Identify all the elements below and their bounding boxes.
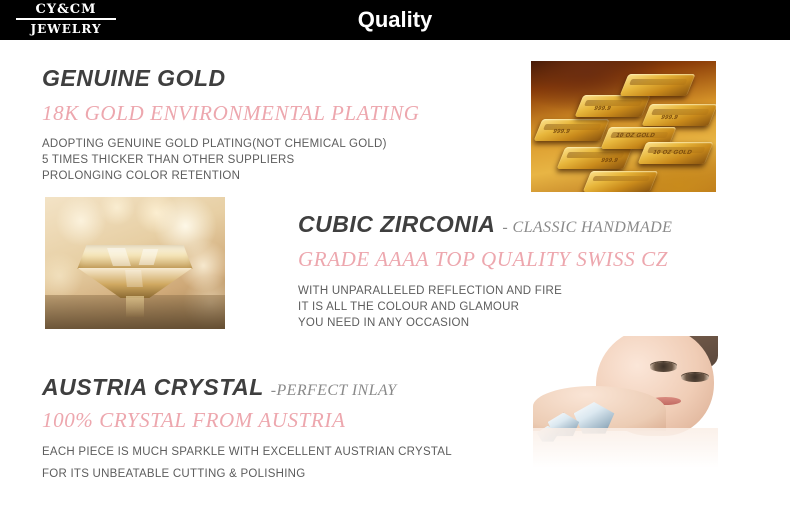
section-cubic-zirconia: CUBIC ZIRCONIA- CLASSIC HANDMADE GRADE A… [298, 212, 672, 331]
quality-banner-page: Quality CY&CM JEWELRY GENUINE GOLD 18K G… [0, 0, 790, 528]
brand-logo-subname: JEWELRY [16, 20, 116, 35]
brand-logo: CY&CM JEWELRY [16, 3, 116, 35]
page-header: Quality CY&CM JEWELRY [0, 0, 790, 40]
gold-bars-artwork: 999.9 999.9 999.9 999.9 10 OZ GOLD 10 OZ… [531, 61, 716, 192]
gold-bar [575, 95, 651, 117]
gold-bars-photo: 999.9 999.9 999.9 999.9 10 OZ GOLD 10 OZ… [531, 61, 716, 192]
section-subheading-cubic-zirconia: GRADE AAAA TOP QUALITY SWISS CZ [298, 247, 672, 272]
golden-diamond-photo [45, 197, 225, 329]
woman-with-crystals-photo [533, 336, 718, 468]
brand-logo-name: CY&CM [16, 3, 116, 20]
eye-shape [681, 373, 709, 382]
section-austria-crystal: AUSTRIA CRYSTAL-PERFECT INLAY 100% CRYST… [42, 375, 452, 485]
gold-bar [556, 147, 632, 169]
eye-shape [650, 362, 678, 371]
diamond-crown [77, 245, 192, 269]
diamond-reflection [126, 296, 144, 317]
section-subheading-austria-crystal: 100% CRYSTAL FROM AUSTRIA [42, 408, 452, 433]
section-body-austria-crystal: EACH PIECE IS MUCH SPARKLE WITH EXCELLEN… [42, 441, 452, 485]
gold-bar [619, 74, 695, 96]
section-body-genuine-gold: ADOPTING GENUINE GOLD PLATING(NOT CHEMIC… [42, 136, 420, 184]
golden-diamond-artwork [45, 197, 225, 329]
section-body-cubic-zirconia: WITH UNPARALLELED REFLECTION AND FIRE IT… [298, 283, 672, 331]
gold-bar [534, 119, 610, 141]
diamond-facet [125, 270, 143, 287]
section-subheading-genuine-gold: 18K GOLD ENVIRONMENTAL PLATING [42, 101, 420, 126]
woman-with-crystals-artwork [533, 336, 718, 468]
mirror-reflection [533, 428, 718, 468]
gold-bar [582, 171, 657, 192]
diamond-shape [77, 245, 192, 298]
section-heading-austria-crystal: AUSTRIA CRYSTAL-PERFECT INLAY [42, 375, 452, 400]
section-heading-cubic-zirconia: CUBIC ZIRCONIA- CLASSIC HANDMADE [298, 212, 672, 237]
page-title: Quality [0, 0, 790, 40]
section-genuine-gold: GENUINE GOLD 18K GOLD ENVIRONMENTAL PLAT… [42, 66, 420, 184]
section-heading-genuine-gold: GENUINE GOLD [42, 66, 420, 91]
